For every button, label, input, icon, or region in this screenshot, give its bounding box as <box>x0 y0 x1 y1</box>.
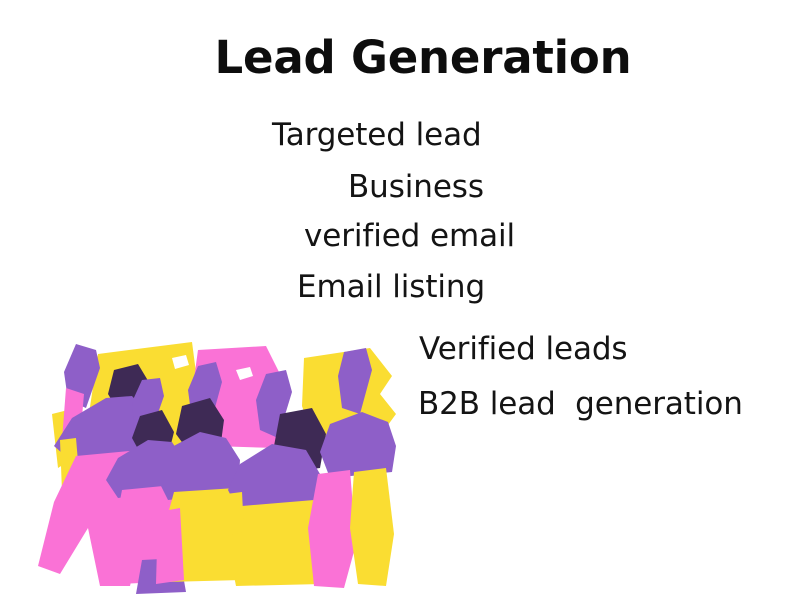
figure4-yellow-sash <box>226 492 244 536</box>
text-line-targeted-lead: Targeted lead <box>272 118 482 152</box>
crowd-illustration-svg <box>14 322 414 600</box>
text-line-business: Business <box>348 170 484 204</box>
figure5-yellow-leg <box>350 468 394 586</box>
page-title: Lead Generation <box>0 32 800 84</box>
text-line-verified-email: verified email <box>304 219 515 253</box>
text-line-email-listing: Email listing <box>297 270 485 304</box>
text-line-verified-leads: Verified leads <box>419 332 627 366</box>
slide-canvas: Lead Generation Targeted lead Business v… <box>0 0 800 600</box>
text-line-b2b-lead-generation: B2B lead generation <box>418 387 743 421</box>
crowd-illustration <box>14 322 414 600</box>
figure3-pink-leg <box>156 508 184 584</box>
